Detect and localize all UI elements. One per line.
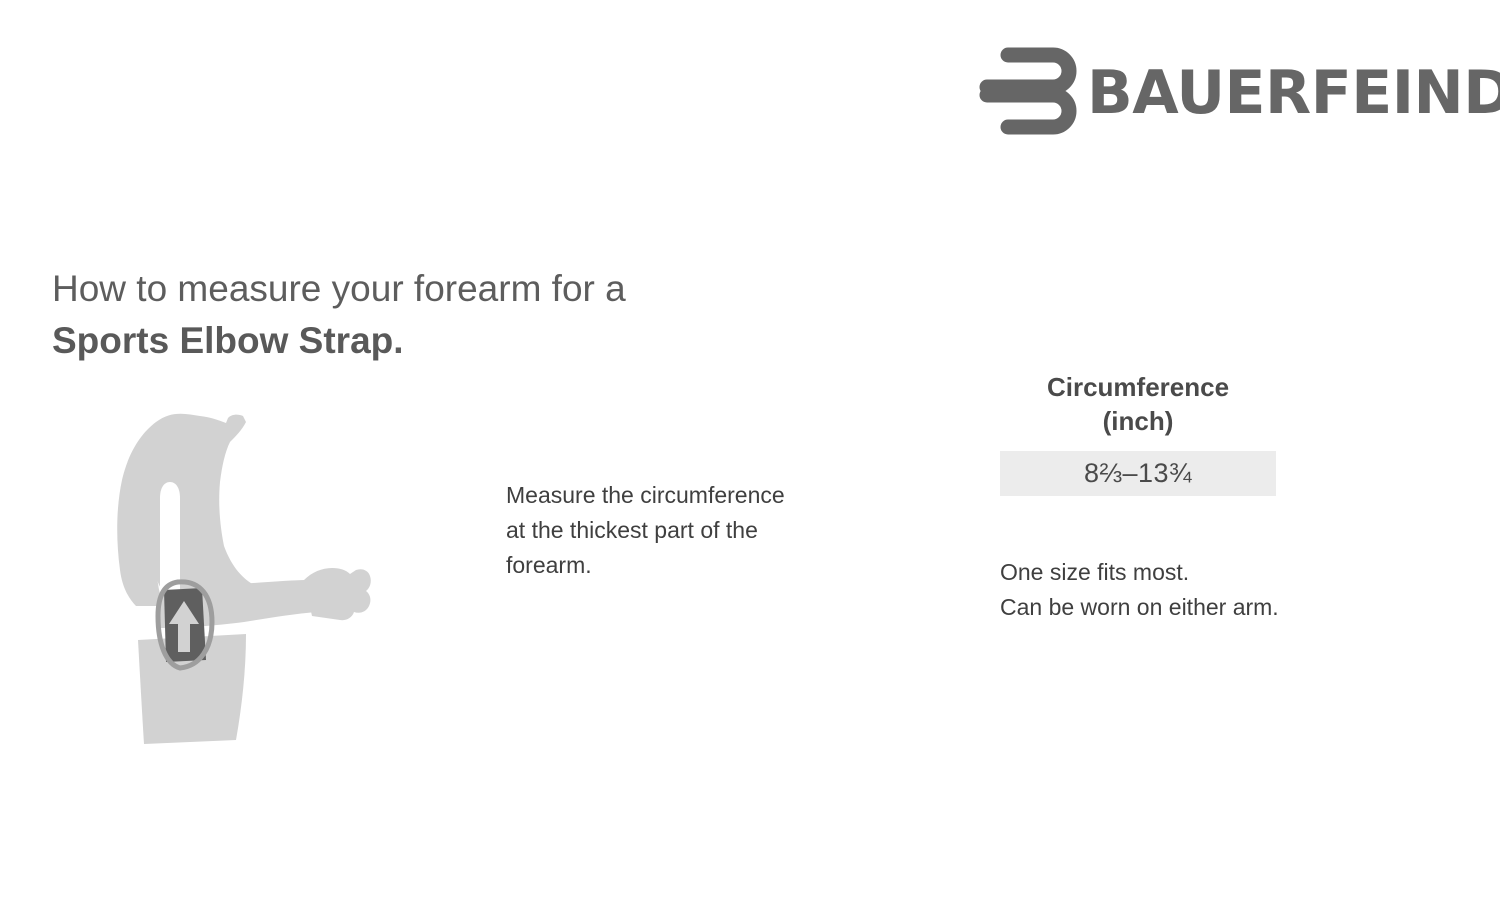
instruction-line-2: at the thickest part of the <box>506 517 758 543</box>
size-table-header-line-1: Circumference <box>1000 370 1276 404</box>
size-table-header: Circumference (inch) <box>1000 370 1276 438</box>
brand-wordmark: BAUERFEIND® <box>1087 63 1500 123</box>
size-note-line-2: Can be worn on either arm. <box>1000 594 1279 620</box>
headline-line-1: How to measure your forearm for a <box>52 268 626 309</box>
bauerfeind-b-mark-icon <box>975 37 1083 150</box>
page-title: How to measure your forearm for a Sports… <box>52 263 872 367</box>
circumference-value: 8⅔–13¾ <box>1084 458 1192 488</box>
size-note-line-1: One size fits most. <box>1000 559 1189 585</box>
headline-product-name: Sports Elbow Strap <box>52 320 393 361</box>
brand-logo: BAUERFEIND® <box>975 38 1455 148</box>
measurement-instruction: Measure the circumference at the thickes… <box>506 478 886 583</box>
size-table: Circumference (inch) 8⅔–13¾ <box>1000 370 1276 496</box>
instruction-line-3: forearm. <box>506 552 592 578</box>
wordmark-text: BAUERFEIND <box>1087 58 1500 128</box>
table-row: 8⅔–13¾ <box>1000 451 1276 496</box>
instruction-line-1: Measure the circumference <box>506 482 785 508</box>
headline-period: . <box>393 320 403 361</box>
elbow-crease-gap <box>160 482 180 590</box>
fist-silhouette <box>304 568 371 620</box>
size-note: One size fits most. Can be worn on eithe… <box>1000 555 1420 625</box>
size-table-header-line-2: (inch) <box>1000 404 1276 438</box>
forearm-measurement-illustration <box>60 400 400 745</box>
